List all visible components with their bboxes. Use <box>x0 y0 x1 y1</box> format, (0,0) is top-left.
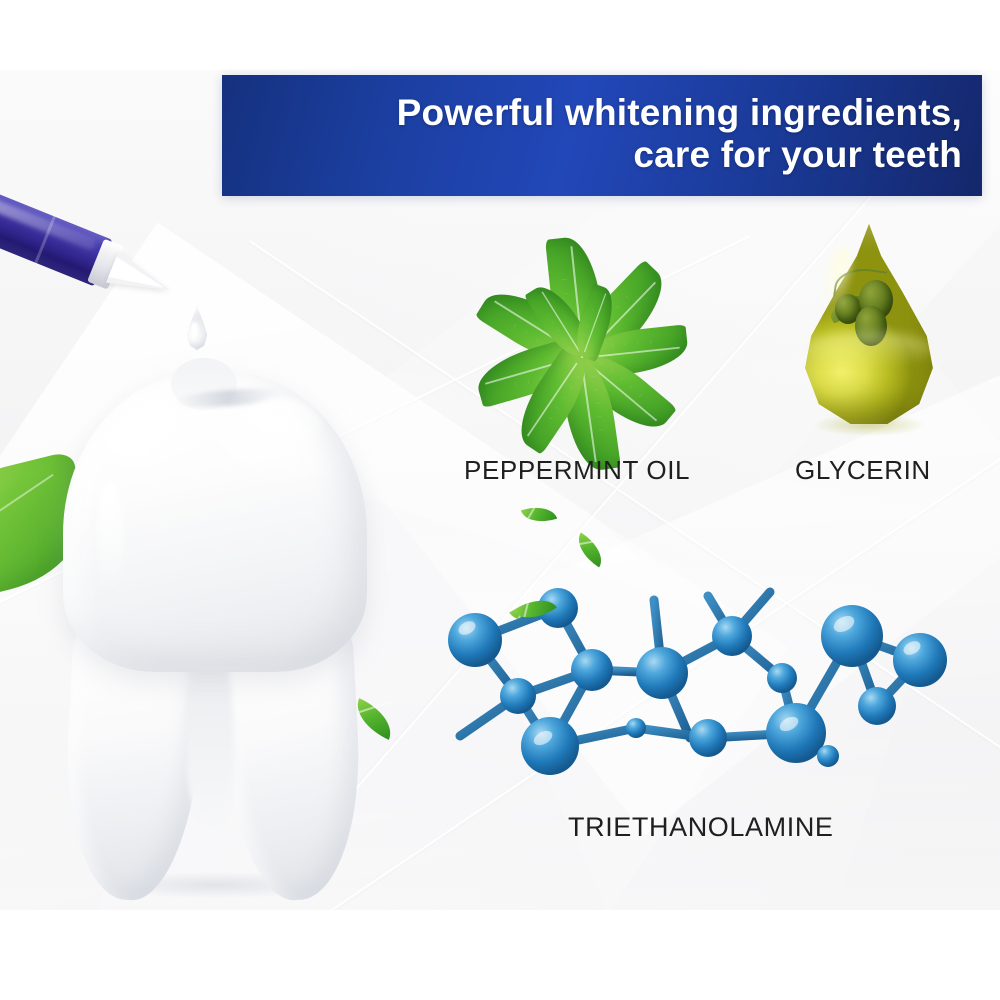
headline-banner: Powerful whitening ingredients, care for… <box>222 75 982 196</box>
tooth-highlight <box>97 480 123 600</box>
gel-droplet-highlight <box>191 322 198 337</box>
product-poster: Powerful whitening ingredients, care for… <box>0 0 1000 1000</box>
mint-sprig-icon <box>432 218 732 448</box>
droplet-highlight <box>805 332 933 366</box>
gel-droplet-icon <box>182 306 212 350</box>
molar-tooth-icon <box>55 372 375 892</box>
ingredient-label-peppermint-oil: PEPPERMINT OIL <box>464 455 690 486</box>
headline-line-2: care for your teeth <box>633 134 962 175</box>
headline-line-1: Powerful whitening ingredients, <box>397 92 962 133</box>
ingredient-label-glycerin: GLYCERIN <box>795 455 931 486</box>
ingredient-label-triethanolamine: TRIETHANOLAMINE <box>568 812 834 843</box>
oil-droplet-icon <box>793 224 945 424</box>
